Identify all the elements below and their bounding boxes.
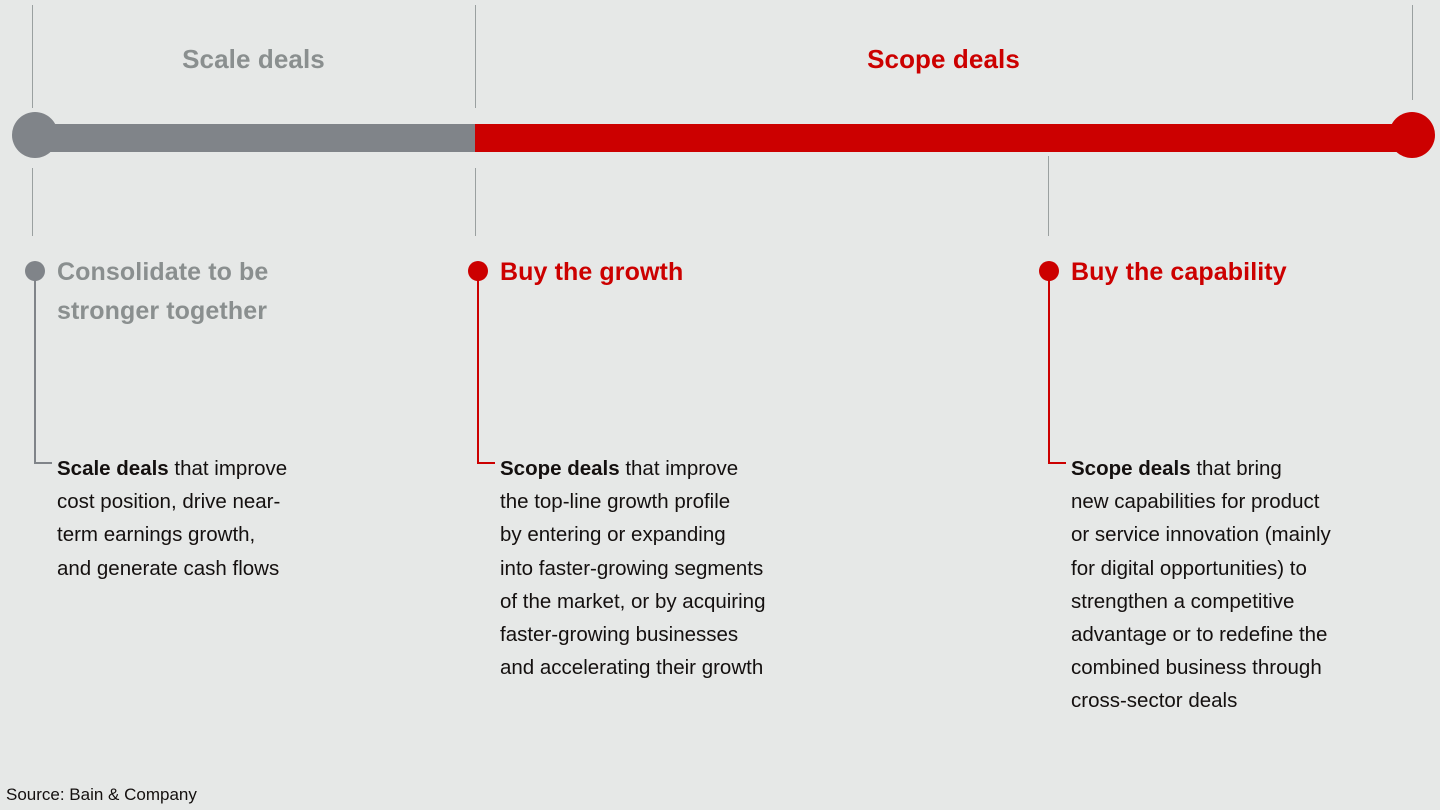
node-body-lead: Scope deals [500, 457, 620, 480]
diagram-canvas: Scale deals Scope deals Consolidate to b… [0, 0, 1440, 810]
guide-tick-far-right-top [1412, 5, 1413, 100]
band-title-scope-deals: Scope deals [475, 44, 1412, 75]
connector-foot [1048, 462, 1066, 464]
guide-tick-left-bottom [32, 168, 33, 236]
node-marker-dot [1039, 261, 1059, 281]
source-attribution: Source: Bain & Company [6, 785, 197, 805]
connector-stem [34, 280, 36, 464]
node-heading-consolidate: Consolidate to be stronger together [57, 253, 387, 331]
node-body-buy-the-capability: Scope deals that bring new capabilities … [1071, 452, 1440, 718]
node-marker-dot [25, 261, 45, 281]
spectrum-segment-scale [32, 124, 475, 152]
node-body-buy-the-growth: Scope deals that improve the top-line gr… [500, 452, 1020, 684]
connector-foot [477, 462, 495, 464]
spectrum-right-endcap-circle [1389, 112, 1435, 158]
node-body-consolidate: Scale deals that improve cost position, … [57, 452, 457, 585]
node-body-lead: Scope deals [1071, 457, 1191, 480]
node-body-lead: Scale deals [57, 457, 169, 480]
connector-stem [477, 280, 479, 464]
node-heading-buy-the-growth: Buy the growth [500, 253, 920, 292]
node-body-rest: that bring new capabilities for product … [1071, 457, 1331, 712]
band-title-scale-deals: Scale deals [32, 44, 475, 75]
spectrum-segment-scope [475, 124, 1412, 152]
connector-foot [34, 462, 52, 464]
guide-tick-mid-bottom [475, 168, 476, 236]
connector-stem [1048, 280, 1050, 464]
node-body-rest: that improve the top-line growth profile… [500, 457, 766, 679]
guide-tick-right-bottom [1048, 156, 1049, 236]
node-heading-buy-the-capability: Buy the capability [1071, 253, 1440, 292]
node-marker-dot [468, 261, 488, 281]
